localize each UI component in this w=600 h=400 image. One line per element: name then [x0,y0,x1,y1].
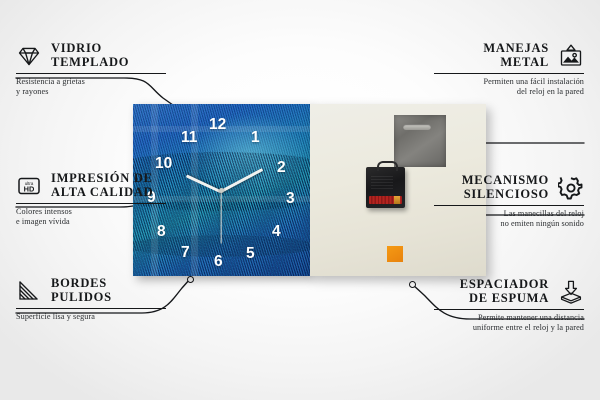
feature-manejas-metal: MANEJAS METAL Permiten una fácil instala… [434,42,584,98]
foam-spacer [387,246,403,262]
feature-subtitle: Resistencia a grietas y rayones [16,77,166,98]
feature-mecanismo-silencioso: MECANISMO SILENCIOSO Las manecillas del … [434,174,584,230]
feature-subtitle: Las manecillas del reloj no emiten ningú… [434,209,584,230]
connector-dot-bordes [187,276,194,283]
clock-numeral-5: 5 [246,246,255,262]
svg-text:HD: HD [24,184,35,193]
clock-numeral-7: 7 [181,245,190,261]
feature-vidrio-templado: VIDRIO TEMPLADO Resistencia a grietas y … [16,42,166,98]
hanger-plate [394,115,446,167]
hanger-slot [403,124,431,130]
feature-subtitle: Superficie lisa y segura [16,312,166,322]
ultra-hd-icon: ultra HD [16,173,42,199]
feature-subtitle: Permiten una fácil instalación del reloj… [434,77,584,98]
infographic-canvas: 12 1 2 3 4 5 6 7 8 9 10 11 [0,0,600,400]
feature-title: IMPRESIÓN DE ALTA CALIDAD [51,172,153,199]
clock-numeral-3: 3 [286,191,295,207]
feature-title: ESPACIADOR DE ESPUMA [460,278,549,305]
title-rule [434,309,584,310]
feature-title: MECANISMO SILENCIOSO [462,174,549,201]
spacer-arrow-icon [558,279,584,305]
title-rule [16,308,166,309]
clock-numeral-2: 2 [277,160,286,176]
feature-title: MANEJAS METAL [483,42,549,69]
feature-subtitle: Colores intensos e imagen vívida [16,207,166,228]
feature-bordes-pulidos: BORDES PULIDOS Superficie lisa y segura [16,277,166,322]
clock-numeral-10: 10 [155,156,172,172]
title-rule [434,73,584,74]
feature-espaciador-espuma: ESPACIADOR DE ESPUMA Permite mantener un… [434,278,584,334]
feature-subtitle: Permite mantener una distancia uniforme … [434,313,584,334]
feature-title: VIDRIO TEMPLADO [51,42,129,69]
battery-strip [369,196,402,204]
clock-numeral-1: 1 [251,130,260,146]
connector-dot-espaciador [409,281,416,288]
clock-hand-cap [219,188,224,193]
picture-hanger-icon [558,43,584,69]
feature-title: BORDES PULIDOS [51,277,112,304]
mechanism-handle [377,161,398,171]
polished-edge-icon [16,278,42,304]
title-rule [16,203,166,204]
clock-numeral-11: 11 [181,130,197,146]
mechanism-grill [371,176,393,191]
clock-mechanism [366,167,405,208]
clock-second-hand [220,192,221,244]
feature-impresion-alta-calidad: ultra HD IMPRESIÓN DE ALTA CALIDAD Color… [16,172,166,228]
clock-numeral-12: 12 [209,117,226,133]
title-rule [16,73,166,74]
title-rule [434,205,584,206]
diamond-icon [16,43,42,69]
clock-numeral-4: 4 [272,224,281,240]
gear-icon [558,175,584,201]
clock-numeral-6: 6 [214,254,223,270]
